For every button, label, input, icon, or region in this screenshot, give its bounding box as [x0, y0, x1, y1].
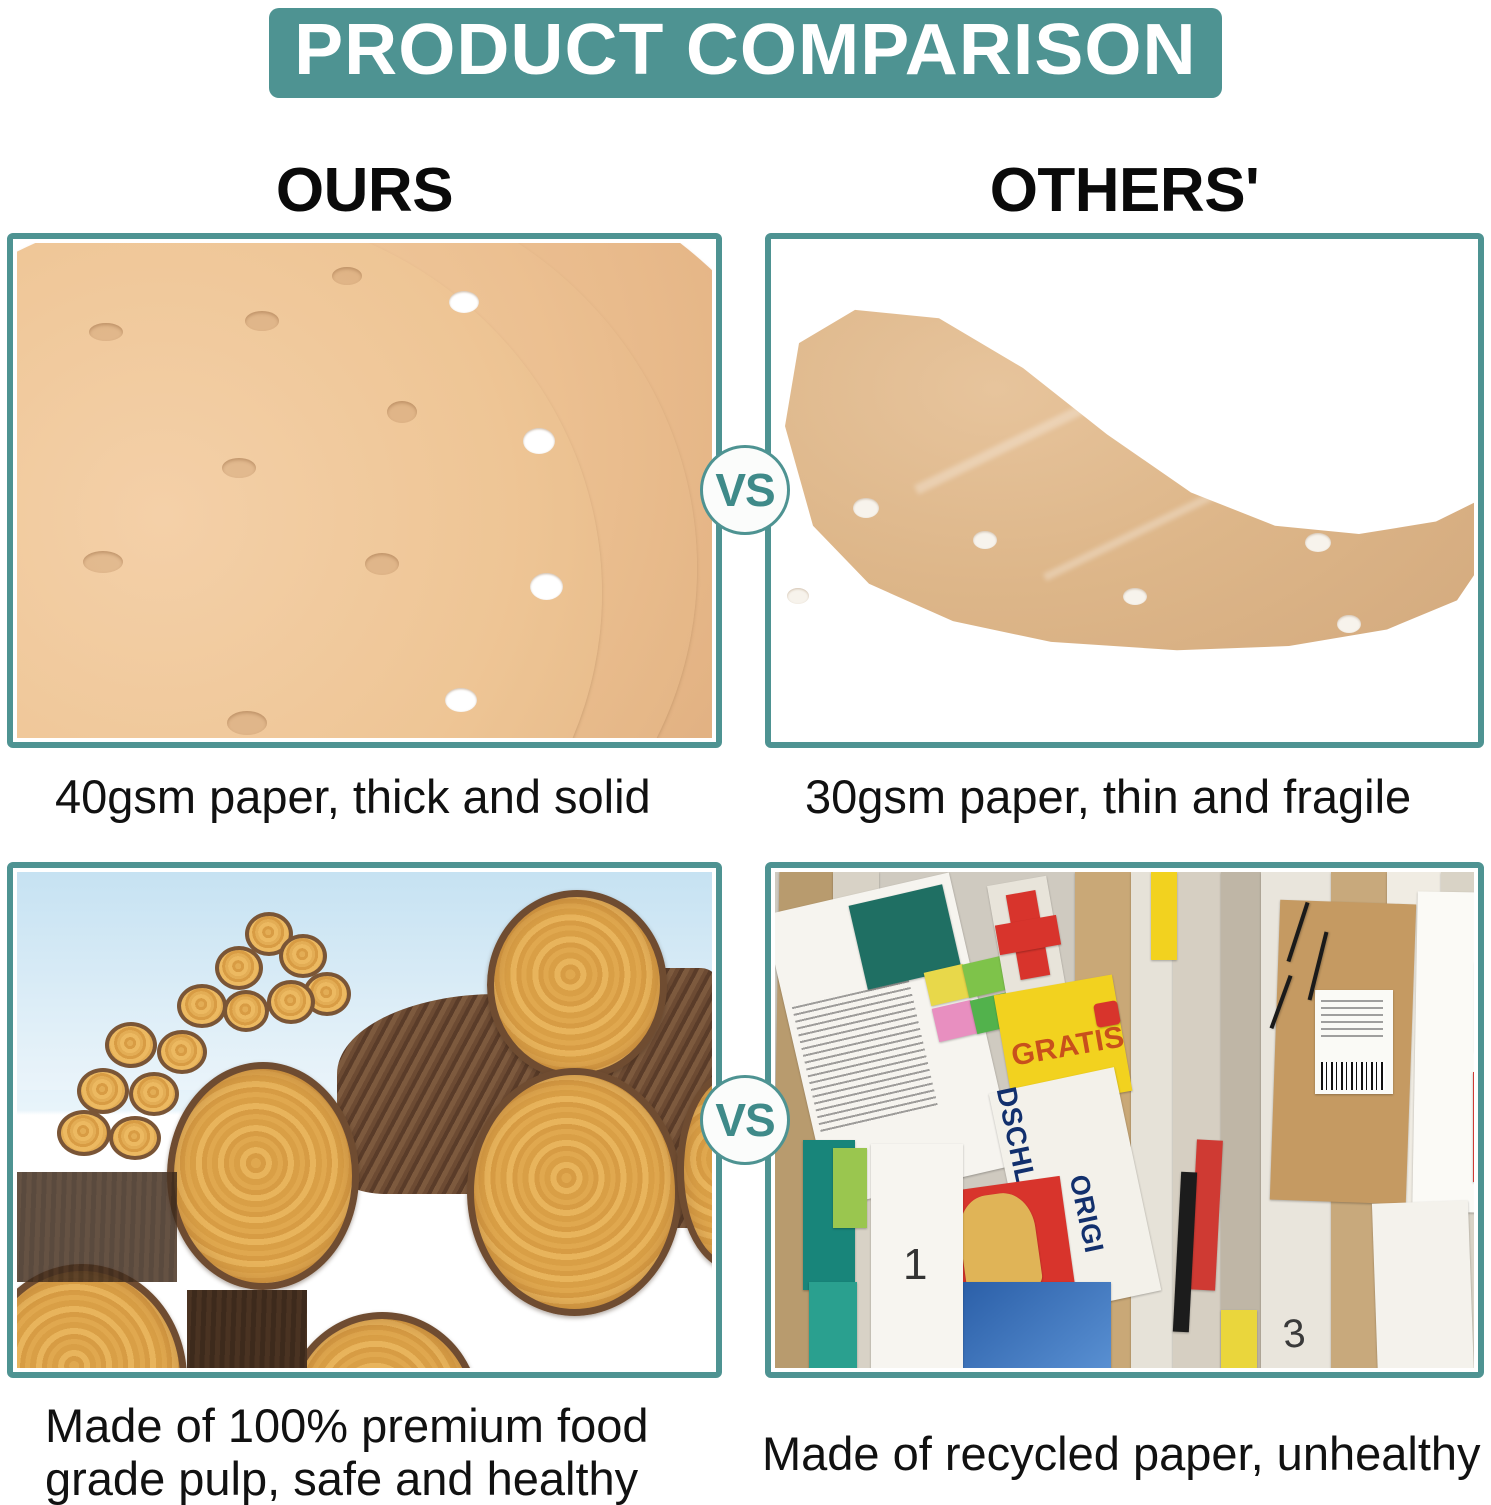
parchment-liner-stack-art: [17, 243, 712, 738]
panel-ours-source: [7, 862, 722, 1378]
vs-badge-bottom: VS: [700, 1075, 790, 1165]
panel-others-source: GRATIS DSCHLOSSCHEN ORIGI 1: [765, 862, 1484, 1378]
title-banner-wrap: PRODUCT COMPARISON: [0, 8, 1491, 98]
panel-others-paper: [765, 233, 1484, 748]
panel-ours-source-image: [17, 872, 712, 1368]
vs-badge-top: VS: [700, 445, 790, 535]
caption-ours-paper: 40gsm paper, thick and solid: [55, 771, 755, 824]
caption-others-paper: 30gsm paper, thin and fragile: [805, 771, 1491, 824]
panel-ours-paper-image: [17, 243, 712, 738]
caption-others-source: Made of recycled paper, unhealthy: [762, 1428, 1491, 1481]
thin-parchment-sheet-art: [775, 243, 1474, 738]
caption-ours-source: Made of 100% premium food grade pulp, sa…: [45, 1400, 745, 1505]
panel-others-source-image: GRATIS DSCHLOSSCHEN ORIGI 1: [775, 872, 1474, 1368]
page-title: PRODUCT COMPARISON: [294, 14, 1196, 86]
vs-badge-label: VS: [715, 463, 774, 517]
timber-logs-art: [17, 872, 712, 1368]
title-banner: PRODUCT COMPARISON: [269, 8, 1222, 98]
vs-badge-label-bottom: VS: [715, 1093, 774, 1147]
column-heading-ours: OURS: [7, 155, 722, 226]
column-heading-others: OTHERS': [765, 155, 1484, 226]
scrap-label-digit-1: 1: [903, 1240, 928, 1290]
waste-paper-bale-art: GRATIS DSCHLOSSCHEN ORIGI 1: [775, 872, 1474, 1368]
scrap-label-digit-3: 3: [1281, 1311, 1308, 1358]
panel-others-paper-image: [775, 243, 1474, 738]
panel-ours-paper: [7, 233, 722, 748]
